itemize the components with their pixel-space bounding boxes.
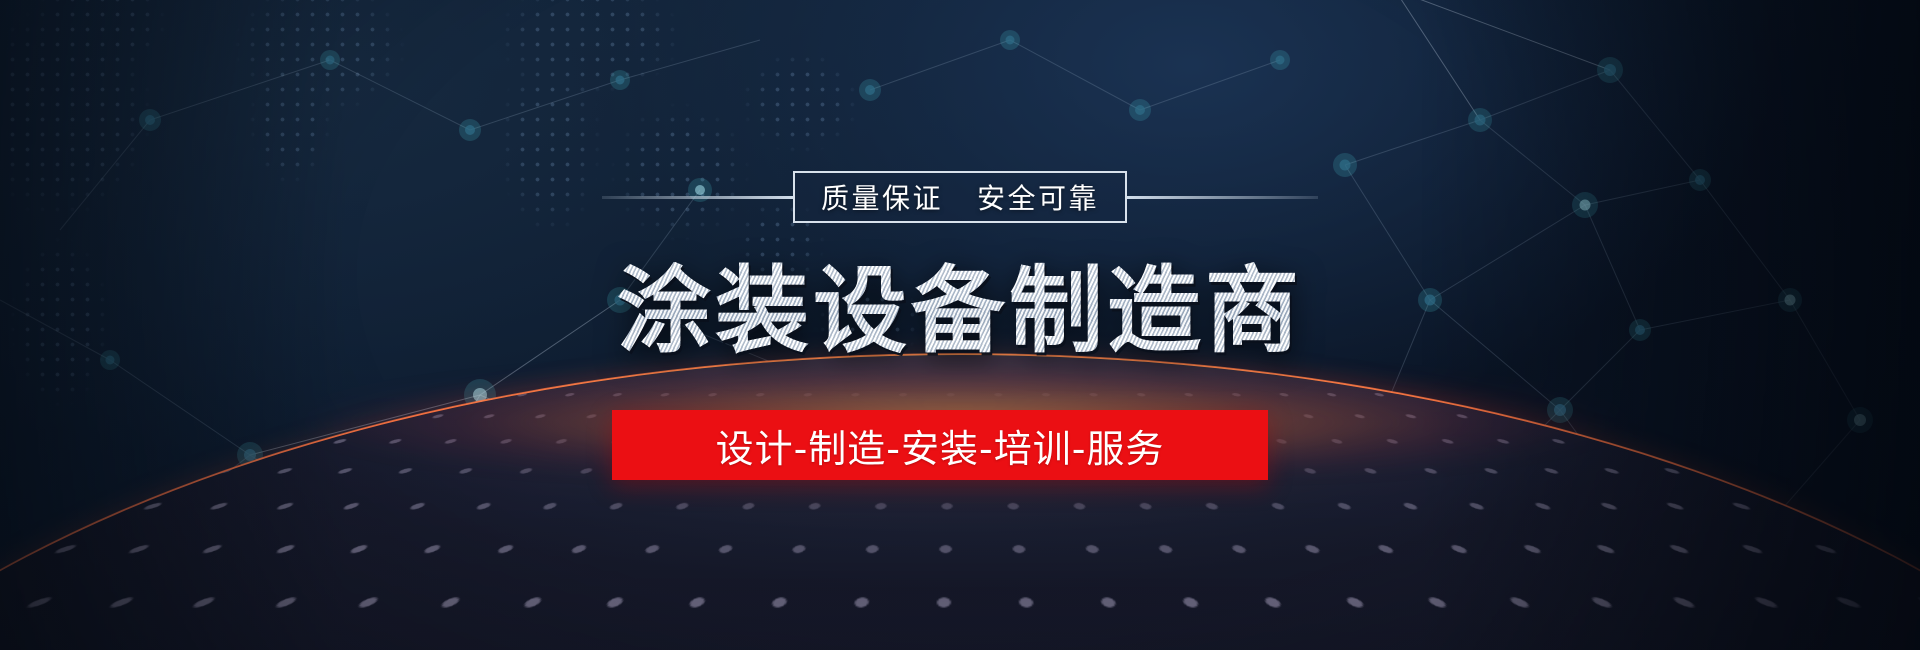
- tagline-row: 质量保证 安全可靠: [0, 171, 1920, 223]
- tagline-rule-right: [1127, 196, 1318, 199]
- page-title: 涂装设备制造商: [0, 262, 1920, 362]
- hero-banner: 质量保证 安全可靠 涂装设备制造商 涂装设备制造商 设计-制造-安装-培训-服务: [0, 0, 1920, 650]
- tagline-box: 质量保证 安全可靠: [793, 171, 1127, 223]
- tagline-item-quality: 质量保证: [821, 177, 943, 217]
- service-ribbon-label: 设计-制造-安装-培训-服务: [716, 418, 1165, 473]
- service-ribbon: 设计-制造-安装-培训-服务: [612, 410, 1268, 480]
- tagline-item-safety: 安全可靠: [977, 177, 1099, 217]
- tagline-rule-left: [602, 196, 793, 199]
